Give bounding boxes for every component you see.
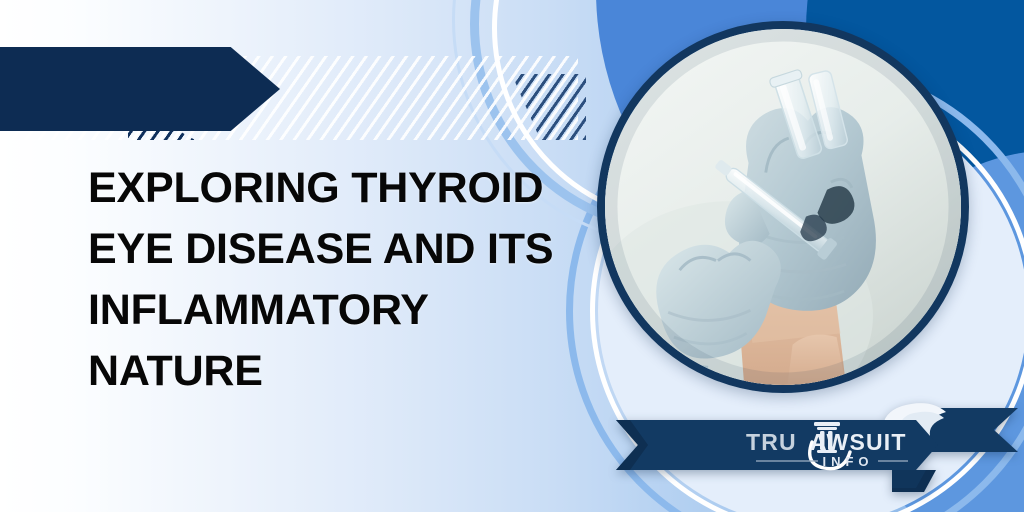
syringe-photo-image (605, 29, 961, 385)
logo-tagline: INFO (822, 454, 873, 469)
hero-photo (597, 21, 969, 393)
trulawsuit-info-logo[interactable]: TRU AWSUIT INFO (740, 418, 915, 472)
diagonal-stripe-band-accent (466, 74, 586, 140)
article-hero-banner: TRU AWSUIT INFO Exploring Thyroid Eye Di… (0, 0, 1024, 512)
page-title: Exploring Thyroid Eye Disease and its In… (88, 158, 588, 402)
diagonal-stripe-band (0, 56, 578, 140)
navy-chevron-decoration (0, 47, 280, 131)
diagonal-stripe-band-dark (128, 56, 288, 140)
logo-word-one: TRU (746, 429, 797, 455)
logo-word-two: AWSUIT (810, 429, 907, 455)
